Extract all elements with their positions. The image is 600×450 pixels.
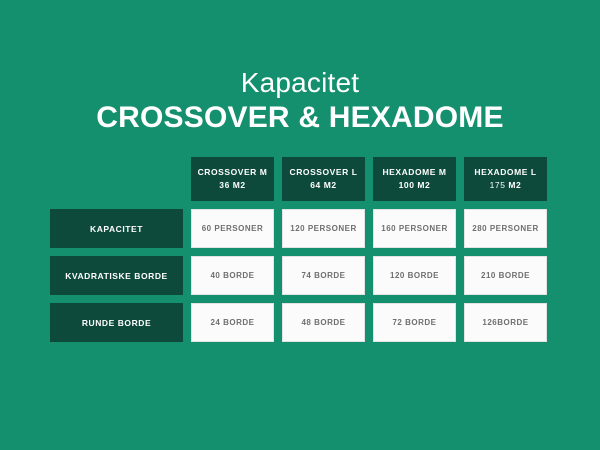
cell-runde-borde-hexadome-l: 126BORDE <box>464 303 547 342</box>
column-header-area-value: 100 <box>399 180 415 190</box>
cell-kvadratiske-borde-hexadome-m: 120 BORDE <box>373 256 456 295</box>
cell-kapacitet-crossover-l: 120 PERSONER <box>282 209 365 248</box>
table-corner-cell <box>50 157 183 201</box>
column-header-name: HEXADOME M <box>382 167 446 177</box>
column-header-crossover-l: CROSSOVER L 64 M2 <box>282 157 365 201</box>
column-header-name: HEXADOME L <box>474 167 536 177</box>
cell-runde-borde-hexadome-m: 72 BORDE <box>373 303 456 342</box>
cell-kapacitet-hexadome-l: 280 PERSONER <box>464 209 547 248</box>
cell-runde-borde-crossover-l: 48 BORDE <box>282 303 365 342</box>
table-header-row: CROSSOVER M 36 M2 CROSSOVER L 64 M2 HEXA… <box>50 157 550 201</box>
column-header-area-unit: M2 <box>233 180 246 190</box>
column-header-area-unit: M2 <box>324 180 337 190</box>
cell-kapacitet-crossover-m: 60 PERSONER <box>191 209 274 248</box>
table-row: RUNDE BORDE 24 BORDE 48 BORDE 72 BORDE 1… <box>50 303 550 342</box>
cell-kvadratiske-borde-hexadome-l: 210 BORDE <box>464 256 547 295</box>
cell-kvadratiske-borde-crossover-l: 74 BORDE <box>282 256 365 295</box>
column-header-area-unit: M2 <box>417 180 430 190</box>
column-header-hexadome-l: HEXADOME L 175 M2 <box>464 157 547 201</box>
column-header-area-unit: M2 <box>508 180 521 190</box>
column-header-area-value: 36 <box>219 180 230 190</box>
column-header-name: CROSSOVER M <box>198 167 268 177</box>
row-label-kvadratiske-borde: KVADRATISKE BORDE <box>50 256 183 295</box>
row-label-runde-borde: RUNDE BORDE <box>50 303 183 342</box>
cell-kvadratiske-borde-crossover-m: 40 BORDE <box>191 256 274 295</box>
row-label-kapacitet: KAPACITET <box>50 209 183 248</box>
cell-kapacitet-hexadome-m: 160 PERSONER <box>373 209 456 248</box>
column-header-name: CROSSOVER L <box>290 167 358 177</box>
table-row: KVADRATISKE BORDE 40 BORDE 74 BORDE 120 … <box>50 256 550 295</box>
page-title: Kapacitet CROSSOVER & HEXADOME <box>0 66 600 136</box>
capacity-poster: Kapacitet CROSSOVER & HEXADOME CROSSOVER… <box>0 0 600 450</box>
column-header-crossover-m: CROSSOVER M 36 M2 <box>191 157 274 201</box>
title-subtitle: Kapacitet <box>0 66 600 100</box>
table-row: KAPACITET 60 PERSONER 120 PERSONER 160 P… <box>50 209 550 248</box>
column-header-area-value: 64 <box>310 180 321 190</box>
title-main: CROSSOVER & HEXADOME <box>0 100 600 136</box>
column-header-hexadome-m: HEXADOME M 100 M2 <box>373 157 456 201</box>
capacity-table: CROSSOVER M 36 M2 CROSSOVER L 64 M2 HEXA… <box>50 157 550 342</box>
column-header-area-value: 175 <box>490 180 506 190</box>
cell-runde-borde-crossover-m: 24 BORDE <box>191 303 274 342</box>
